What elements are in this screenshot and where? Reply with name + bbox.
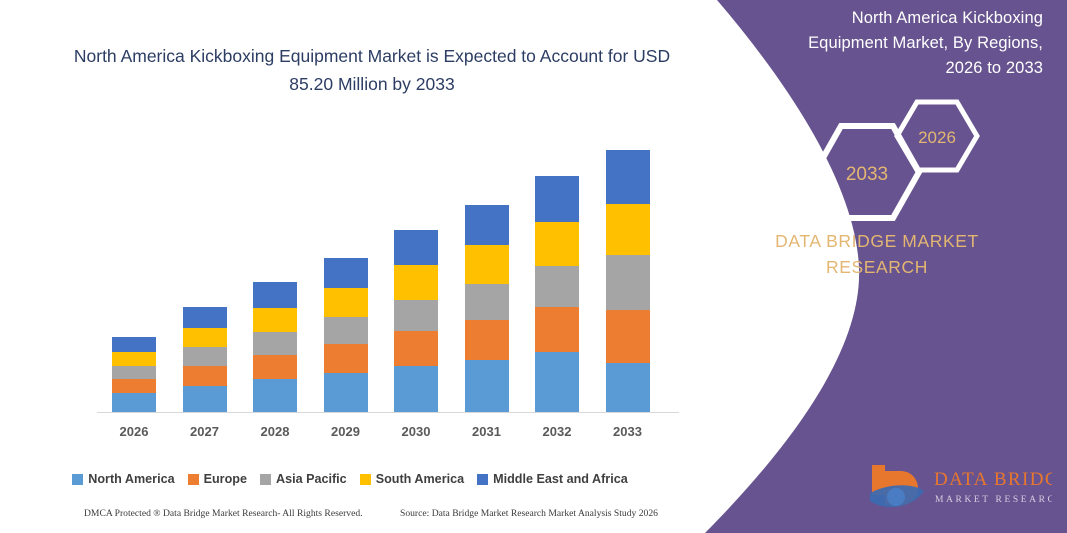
bar-segment-2033-north-america <box>606 363 650 412</box>
bar-segment-2026-asia-pacific <box>112 366 156 379</box>
infographic-root: North America Kickboxing Equipment Marke… <box>0 0 1067 533</box>
legend-swatch-icon <box>260 474 271 485</box>
bar-segment-2026-europe <box>112 379 156 393</box>
bar-segment-2033-asia-pacific <box>606 255 650 310</box>
bar-segment-2031-north-america <box>465 360 509 412</box>
bar-2033 <box>606 150 650 412</box>
bar-segment-2029-middle-east-and-africa <box>324 258 368 288</box>
bar-segment-2029-north-america <box>324 373 368 412</box>
bar-segment-2028-north-america <box>253 379 297 412</box>
brand-name: DATA BRIDGE MARKET RESEARCH <box>707 228 1047 280</box>
footer-source: Source: Data Bridge Market Research Mark… <box>400 508 658 519</box>
x-axis-label-2030: 2030 <box>381 424 451 439</box>
bar-segment-2031-middle-east-and-africa <box>465 205 509 245</box>
bar-segment-2033-middle-east-and-africa <box>606 150 650 204</box>
legend-item-middle-east-and-africa[interactable]: Middle East and Africa <box>477 472 628 486</box>
brand-name-line1: DATA BRIDGE MARKET <box>707 228 1047 254</box>
bar-segment-2031-asia-pacific <box>465 284 509 320</box>
bar-segment-2031-europe <box>465 320 509 360</box>
bar-segment-2032-europe <box>535 307 579 352</box>
bar-2031 <box>465 205 509 412</box>
legend-label: Middle East and Africa <box>493 472 628 486</box>
x-axis-label-2031: 2031 <box>452 424 522 439</box>
bar-segment-2027-north-america <box>183 386 227 412</box>
bar-2026 <box>112 337 156 412</box>
bar-2029 <box>324 258 368 412</box>
footer-copyright: DMCA Protected ® Data Bridge Market Rese… <box>84 508 363 519</box>
bar-segment-2027-europe <box>183 366 227 386</box>
x-axis-line <box>97 412 679 413</box>
bar-2032 <box>535 176 579 412</box>
legend-item-north-america[interactable]: North America <box>72 472 174 486</box>
legend-swatch-icon <box>360 474 371 485</box>
bar-segment-2029-europe <box>324 344 368 374</box>
x-axis-label-2029: 2029 <box>311 424 381 439</box>
logo-dot-icon <box>887 488 905 506</box>
bar-segment-2033-europe <box>606 310 650 363</box>
legend-label: Europe <box>204 472 247 486</box>
bar-segment-2032-asia-pacific <box>535 266 579 307</box>
x-axis-label-2033: 2033 <box>593 424 663 439</box>
bar-segment-2026-middle-east-and-africa <box>112 337 156 352</box>
brand-panel: North America Kickboxing Equipment Marke… <box>687 0 1067 533</box>
bar-segment-2033-south-america <box>606 204 650 255</box>
chart-legend: North AmericaEuropeAsia PacificSouth Ame… <box>0 472 700 486</box>
x-axis-label-2032: 2032 <box>522 424 592 439</box>
bar-segment-2030-south-america <box>394 265 438 299</box>
bar-segment-2027-middle-east-and-africa <box>183 307 227 328</box>
bar-segment-2028-south-america <box>253 308 297 333</box>
bar-segment-2027-south-america <box>183 328 227 348</box>
legend-swatch-icon <box>477 474 488 485</box>
bar-segment-2028-middle-east-and-africa <box>253 282 297 308</box>
bar-segment-2030-north-america <box>394 366 438 412</box>
bar-segment-2028-europe <box>253 355 297 380</box>
hexagon-2026-label: 2026 <box>918 128 956 147</box>
legend-item-asia-pacific[interactable]: Asia Pacific <box>260 472 347 486</box>
legend-item-south-america[interactable]: South America <box>360 472 464 486</box>
bar-segment-2032-north-america <box>535 352 579 412</box>
bar-segment-2030-asia-pacific <box>394 300 438 331</box>
legend-label: South America <box>376 472 464 486</box>
bar-segment-2026-north-america <box>112 393 156 412</box>
bar-segment-2027-asia-pacific <box>183 347 227 365</box>
bar-segment-2030-middle-east-and-africa <box>394 230 438 265</box>
legend-item-europe[interactable]: Europe <box>188 472 247 486</box>
bar-segment-2030-europe <box>394 331 438 366</box>
legend-label: Asia Pacific <box>276 472 347 486</box>
logo-text-bottom: MARKET RESEARCH <box>935 495 1052 505</box>
bar-segment-2032-middle-east-and-africa <box>535 176 579 222</box>
bar-segment-2026-south-america <box>112 352 156 366</box>
panel-heading: North America Kickboxing Equipment Marke… <box>791 6 1043 81</box>
hexagon-2033-label: 2033 <box>846 164 888 185</box>
legend-swatch-icon <box>72 474 83 485</box>
x-axis-label-2028: 2028 <box>240 424 310 439</box>
x-axis-label-2027: 2027 <box>170 424 240 439</box>
legend-label: North America <box>88 472 174 486</box>
bar-2030 <box>394 230 438 412</box>
bar-segment-2029-asia-pacific <box>324 317 368 344</box>
bar-segment-2032-south-america <box>535 222 579 266</box>
bar-segment-2028-asia-pacific <box>253 332 297 354</box>
legend-swatch-icon <box>188 474 199 485</box>
bar-segment-2029-south-america <box>324 288 368 317</box>
hexagon-badges: 2026 2033 <box>805 96 985 221</box>
logo-text-top: DATA BRIDGE <box>934 469 1052 490</box>
bar-2027 <box>183 307 227 412</box>
bar-chart: 20262027202820292030203120322033 North A… <box>0 0 700 533</box>
bar-2028 <box>253 282 297 412</box>
bar-segment-2031-south-america <box>465 245 509 284</box>
brand-name-line2: RESEARCH <box>707 254 1047 280</box>
x-axis-label-2026: 2026 <box>99 424 169 439</box>
dbmr-logo: DATA BRIDGE MARKET RESEARCH <box>862 457 1052 519</box>
